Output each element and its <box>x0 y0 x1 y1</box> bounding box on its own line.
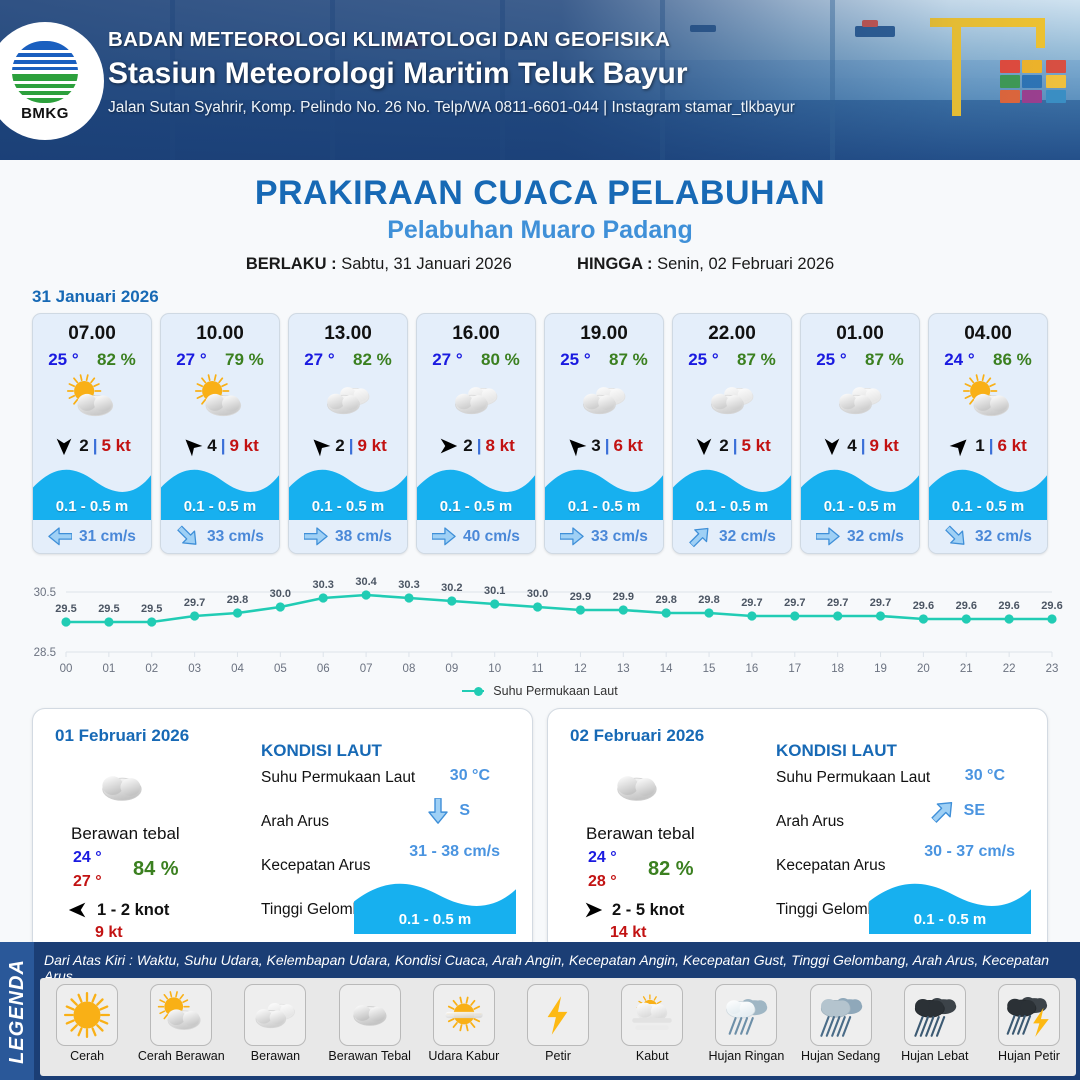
cerah-berawan-icon <box>150 984 212 1046</box>
bmkg-logo-mark <box>12 41 78 103</box>
card-wind-scale: 2 <box>79 436 88 456</box>
hourly-card: 19.00 25 ° 87 % 3 | 6 kt 0.1 - 0.5 m <box>544 313 664 554</box>
legend-item: Hujan Lebat <box>888 978 982 1076</box>
day-wind-range: 1 - 2 knot <box>97 901 169 920</box>
cerah-berawan-icon <box>33 372 151 428</box>
card-wind-row: 2 | 5 kt <box>33 428 151 464</box>
card-wave-height: 0.1 - 0.5 m <box>545 498 663 515</box>
card-wind-scale: 2 <box>463 436 472 456</box>
header-text-block: BADAN METEOROLOGI KLIMATOLOGI DAN GEOFIS… <box>108 28 795 117</box>
sst-value: 30 °C <box>450 767 490 785</box>
day-wind-row: 2 - 5 knot <box>582 899 684 921</box>
sst-value: 30 °C <box>965 767 1005 785</box>
card-wave: 0.1 - 0.5 m <box>801 464 919 520</box>
title-section: PRAKIRAAN CUACA PELABUHAN Pelabuhan Muar… <box>0 160 1080 274</box>
current-direction-label: Arah Arus <box>776 813 844 831</box>
legend-items: Cerah Cerah Berawan Berawan Berawan Teba… <box>40 978 1076 1076</box>
daily-forecast-row: 01 Februari 2026 Berawan tebal 24 ° 27 °… <box>0 698 1080 953</box>
card-time: 01.00 <box>801 314 919 345</box>
card-humidity: 80 % <box>481 350 520 370</box>
svg-text:13: 13 <box>617 663 630 675</box>
udara-kabur-icon <box>433 984 495 1046</box>
cerah-berawan-icon <box>929 372 1047 428</box>
sst-label: Suhu Permukaan Laut <box>261 769 415 787</box>
legend-item: Berawan <box>228 978 322 1076</box>
chart-legend-swatch <box>462 690 484 693</box>
card-humidity: 82 % <box>353 350 392 370</box>
svg-text:30.4: 30.4 <box>355 576 377 588</box>
card-current-row: 32 cm/s <box>673 520 791 553</box>
svg-text:30.3: 30.3 <box>398 579 419 591</box>
svg-text:29.8: 29.8 <box>227 594 248 606</box>
validity-row: BERLAKU : Sabtu, 31 Januari 2026 HINGGA … <box>0 255 1080 274</box>
svg-text:29.7: 29.7 <box>870 597 891 609</box>
svg-text:30.0: 30.0 <box>527 588 548 600</box>
current-direction-arrow-icon <box>48 527 72 546</box>
card-current-speed: 38 cm/s <box>335 528 392 546</box>
logo-text: BMKG <box>21 105 69 122</box>
petir-icon <box>527 984 589 1046</box>
card-wave: 0.1 - 0.5 m <box>417 464 535 520</box>
separator: | <box>733 436 738 456</box>
card-wind-row: 2 | 5 kt <box>673 428 791 464</box>
card-temperature: 25 ° <box>688 350 718 370</box>
card-wave: 0.1 - 0.5 m <box>545 464 663 520</box>
svg-text:30.2: 30.2 <box>441 582 462 594</box>
current-speed-value: 30 - 37 cm/s <box>924 843 1015 861</box>
chart-legend-label: Suhu Permukaan Laut <box>493 684 617 698</box>
svg-text:30.1: 30.1 <box>484 585 505 597</box>
daily-forecast-panel: 02 Februari 2026 Berawan tebal 24 ° 28 °… <box>547 708 1048 953</box>
hourly-date-heading: 31 Januari 2026 <box>32 287 1080 307</box>
agency-name: BADAN METEOROLOGI KLIMATOLOGI DAN GEOFIS… <box>108 28 795 52</box>
card-wave: 0.1 - 0.5 m <box>33 464 151 520</box>
svg-text:22: 22 <box>1003 663 1016 675</box>
card-time: 19.00 <box>545 314 663 345</box>
berawan-tebal-icon <box>339 984 401 1046</box>
legend-item: Berawan Tebal <box>323 978 417 1076</box>
svg-text:29.8: 29.8 <box>698 594 719 606</box>
svg-text:17: 17 <box>788 663 801 675</box>
svg-text:21: 21 <box>960 663 973 675</box>
card-current-speed: 32 cm/s <box>719 528 776 546</box>
card-time: 07.00 <box>33 314 151 345</box>
sea-conditions-title: KONDISI LAUT <box>261 741 382 761</box>
page-header: BMKG BADAN METEOROLOGI KLIMATOLOGI DAN G… <box>0 0 1080 160</box>
current-direction-arrow-icon <box>560 527 584 546</box>
svg-text:29.7: 29.7 <box>827 597 848 609</box>
logo-stripe <box>12 88 78 91</box>
card-gust: 9 kt <box>229 436 258 456</box>
logo-stripe <box>12 64 78 67</box>
card-current-speed: 32 cm/s <box>975 528 1032 546</box>
card-current-row: 40 cm/s <box>417 520 535 553</box>
hujan-lebat-icon <box>904 984 966 1046</box>
card-current-speed: 40 cm/s <box>463 528 520 546</box>
card-wind-scale: 2 <box>719 436 728 456</box>
card-wave-height: 0.1 - 0.5 m <box>33 498 151 515</box>
hourly-card: 10.00 27 ° 79 % 4 | 9 kt 0.1 - 0.5 m 3 <box>160 313 280 554</box>
svg-text:28.5: 28.5 <box>34 647 56 659</box>
berawan-tebal-icon <box>606 757 668 824</box>
svg-text:23: 23 <box>1046 663 1059 675</box>
svg-text:01: 01 <box>102 663 115 675</box>
svg-text:16: 16 <box>746 663 759 675</box>
svg-text:29.9: 29.9 <box>570 591 591 603</box>
wind-direction-arrow-icon <box>821 435 843 457</box>
cerah-berawan-icon <box>161 372 279 428</box>
berawan-icon <box>289 372 407 428</box>
separator: | <box>861 436 866 456</box>
wind-direction-arrow-icon <box>565 435 587 457</box>
legend-side-text: LEGENDA <box>6 959 29 1064</box>
wind-direction-arrow-icon <box>181 435 203 457</box>
card-wind-scale: 4 <box>207 436 216 456</box>
valid-from-value: Sabtu, 31 Januari 2026 <box>341 255 512 273</box>
valid-until-value: Senin, 02 Februari 2026 <box>657 255 834 273</box>
wind-direction-arrow-icon <box>582 899 604 921</box>
legend-bar: LEGENDA Dari Atas Kiri : Waktu, Suhu Uda… <box>0 942 1080 1080</box>
separator: | <box>477 436 482 456</box>
day-wind-range: 2 - 5 knot <box>612 901 684 920</box>
current-direction-arrow-icon <box>432 527 456 546</box>
sst-chart-svg: 30.528.500010203040506070809101112131415… <box>14 564 1066 682</box>
card-time: 16.00 <box>417 314 535 345</box>
card-wave-height: 0.1 - 0.5 m <box>929 498 1047 515</box>
card-current-row: 33 cm/s <box>545 520 663 553</box>
svg-text:20: 20 <box>917 663 930 675</box>
card-wave-height: 0.1 - 0.5 m <box>673 498 791 515</box>
svg-text:11: 11 <box>532 663 544 675</box>
logo-stripe <box>12 50 78 53</box>
legend-item: Hujan Ringan <box>699 978 793 1076</box>
svg-text:30.5: 30.5 <box>34 587 56 599</box>
logo-stripe <box>12 95 78 98</box>
svg-text:07: 07 <box>360 663 373 675</box>
berawan-icon <box>801 372 919 428</box>
card-wind-row: 2 | 9 kt <box>289 428 407 464</box>
legend-item-label: Kabut <box>636 1049 669 1063</box>
current-direction-arrow-icon <box>816 527 840 546</box>
chart-legend: Suhu Permukaan Laut <box>0 684 1080 698</box>
card-time: 10.00 <box>161 314 279 345</box>
berawan-icon <box>417 372 535 428</box>
svg-text:10: 10 <box>488 663 501 675</box>
current-direction-arrow-icon <box>176 527 200 546</box>
card-current-row: 32 cm/s <box>801 520 919 553</box>
hujan-petir-icon <box>998 984 1060 1046</box>
hujan-sedang-icon <box>810 984 872 1046</box>
sst-chart: 30.528.500010203040506070809101112131415… <box>14 564 1066 682</box>
card-current-row: 31 cm/s <box>33 520 151 553</box>
svg-text:14: 14 <box>660 663 673 675</box>
card-wind-row: 1 | 6 kt <box>929 428 1047 464</box>
hourly-card: 04.00 24 ° 86 % 1 | 6 kt 0.1 - 0.5 m 3 <box>928 313 1048 554</box>
berawan-icon <box>244 984 306 1046</box>
current-direction-arrow-icon <box>944 527 968 546</box>
day-temp-min: 24 ° <box>73 849 102 867</box>
wind-direction-arrow-icon <box>949 435 971 457</box>
svg-text:29.8: 29.8 <box>655 594 676 606</box>
card-current-speed: 31 cm/s <box>79 528 136 546</box>
day-humidity: 82 % <box>648 858 694 881</box>
svg-text:04: 04 <box>231 663 244 675</box>
wind-direction-arrow-icon <box>693 435 715 457</box>
card-current-speed: 33 cm/s <box>591 528 648 546</box>
card-current-row: 33 cm/s <box>161 520 279 553</box>
card-wind-row: 4 | 9 kt <box>161 428 279 464</box>
card-wind-row: 2 | 8 kt <box>417 428 535 464</box>
card-gust: 5 kt <box>741 436 770 456</box>
day-wave-value: 0.1 - 0.5 m <box>869 911 1031 928</box>
current-direction-value-row: S <box>425 801 470 821</box>
hourly-card: 01.00 25 ° 87 % 4 | 9 kt 0.1 - 0.5 m <box>800 313 920 554</box>
card-wave: 0.1 - 0.5 m <box>161 464 279 520</box>
svg-text:29.5: 29.5 <box>141 603 162 615</box>
card-wind-scale: 2 <box>335 436 344 456</box>
svg-text:19: 19 <box>874 663 887 675</box>
wind-direction-arrow-icon <box>437 435 459 457</box>
legend-side-title: LEGENDA <box>0 942 34 1080</box>
sst-label: Suhu Permukaan Laut <box>776 769 930 787</box>
card-wave: 0.1 - 0.5 m <box>289 464 407 520</box>
hourly-card: 07.00 25 ° 82 % 2 | 5 kt 0.1 - 0.5 m 3 <box>32 313 152 554</box>
daily-forecast-panel: 01 Februari 2026 Berawan tebal 24 ° 27 °… <box>32 708 533 953</box>
day-temp-min: 24 ° <box>588 849 617 867</box>
current-direction-label: Arah Arus <box>261 813 329 831</box>
sea-conditions-title: KONDISI LAUT <box>776 741 897 761</box>
card-wind-scale: 4 <box>847 436 856 456</box>
card-wind-row: 4 | 9 kt <box>801 428 919 464</box>
card-wind-row: 3 | 6 kt <box>545 428 663 464</box>
card-temperature: 25 ° <box>560 350 590 370</box>
svg-text:29.5: 29.5 <box>98 603 119 615</box>
card-temperature: 25 ° <box>816 350 846 370</box>
day-humidity: 84 % <box>133 858 179 881</box>
valid-from-label: BERLAKU : <box>246 255 337 273</box>
current-direction-value: SE <box>964 802 985 820</box>
current-speed-label: Kecepatan Arus <box>776 857 885 875</box>
logo-stripe <box>12 57 78 60</box>
current-speed-value: 31 - 38 cm/s <box>409 843 500 861</box>
card-gust: 5 kt <box>101 436 130 456</box>
hourly-card: 22.00 25 ° 87 % 2 | 5 kt 0.1 - 0.5 m <box>672 313 792 554</box>
legend-item-label: Hujan Lebat <box>901 1049 968 1063</box>
card-current-row: 32 cm/s <box>929 520 1047 553</box>
card-gust: 9 kt <box>869 436 898 456</box>
day-date: 01 Februari 2026 <box>55 726 189 746</box>
card-wind-scale: 3 <box>591 436 600 456</box>
card-humidity: 87 % <box>865 350 904 370</box>
current-direction-arrow-icon <box>688 527 712 546</box>
card-humidity: 82 % <box>97 350 136 370</box>
legend-item-label: Udara Kabur <box>428 1049 499 1063</box>
day-gust: 9 kt <box>95 924 123 942</box>
current-speed-label: Kecepatan Arus <box>261 857 370 875</box>
card-temperature: 27 ° <box>432 350 462 370</box>
legend-item-label: Cerah Berawan <box>138 1049 225 1063</box>
card-time: 22.00 <box>673 314 791 345</box>
svg-text:29.9: 29.9 <box>613 591 634 603</box>
card-temperature: 27 ° <box>176 350 206 370</box>
separator: | <box>93 436 98 456</box>
hourly-card: 16.00 27 ° 80 % 2 | 8 kt 0.1 - 0.5 m <box>416 313 536 554</box>
day-temp-max: 27 ° <box>73 873 102 891</box>
svg-text:29.6: 29.6 <box>956 600 977 612</box>
separator: | <box>989 436 994 456</box>
svg-text:29.7: 29.7 <box>784 597 805 609</box>
card-temperature: 24 ° <box>944 350 974 370</box>
berawan-tebal-icon <box>91 757 153 824</box>
station-name: Stasiun Meteorologi Maritim Teluk Bayur <box>108 57 795 91</box>
svg-text:29.6: 29.6 <box>998 600 1019 612</box>
card-temperature: 25 ° <box>48 350 78 370</box>
current-direction-arrow-icon <box>304 527 328 546</box>
svg-text:29.7: 29.7 <box>184 597 205 609</box>
card-wave-height: 0.1 - 0.5 m <box>289 498 407 515</box>
legend-item: Cerah <box>40 978 134 1076</box>
legend-item-label: Petir <box>545 1049 571 1063</box>
logo-divider <box>12 70 78 74</box>
berawan-icon <box>545 372 663 428</box>
svg-text:09: 09 <box>445 663 458 675</box>
card-humidity: 79 % <box>225 350 264 370</box>
svg-text:30.3: 30.3 <box>312 579 333 591</box>
current-direction-value: S <box>459 802 470 820</box>
legend-item: Udara Kabur <box>417 978 511 1076</box>
svg-text:08: 08 <box>403 663 416 675</box>
card-current-row: 38 cm/s <box>289 520 407 553</box>
card-gust: 9 kt <box>357 436 386 456</box>
current-direction-value-row: SE <box>930 801 985 821</box>
legend-item: Kabut <box>605 978 699 1076</box>
card-humidity: 87 % <box>737 350 776 370</box>
kabut-icon <box>621 984 683 1046</box>
legend-item: Hujan Petir <box>982 978 1076 1076</box>
card-gust: 6 kt <box>997 436 1026 456</box>
day-date: 02 Februari 2026 <box>570 726 704 746</box>
legend-item: Petir <box>511 978 605 1076</box>
separator: | <box>349 436 354 456</box>
card-temperature: 27 ° <box>304 350 334 370</box>
current-direction-arrow-icon <box>930 801 956 821</box>
current-direction-arrow-icon <box>425 801 451 821</box>
legend-item-label: Berawan Tebal <box>328 1049 410 1063</box>
card-wave-height: 0.1 - 0.5 m <box>417 498 535 515</box>
svg-text:12: 12 <box>574 663 587 675</box>
legend-item-label: Hujan Sedang <box>801 1049 880 1063</box>
page-title: PRAKIRAAN CUACA PELABUHAN <box>0 174 1080 213</box>
svg-text:00: 00 <box>60 663 73 675</box>
separator: | <box>221 436 226 456</box>
card-current-speed: 33 cm/s <box>207 528 264 546</box>
valid-until-label: HINGGA : <box>577 255 652 273</box>
hujan-ringan-icon <box>715 984 777 1046</box>
svg-text:02: 02 <box>145 663 158 675</box>
card-gust: 6 kt <box>613 436 642 456</box>
card-gust: 8 kt <box>485 436 514 456</box>
svg-text:29.5: 29.5 <box>55 603 76 615</box>
card-current-speed: 32 cm/s <box>847 528 904 546</box>
day-wave-value: 0.1 - 0.5 m <box>354 911 516 928</box>
day-temp-max: 28 ° <box>588 873 617 891</box>
svg-text:18: 18 <box>831 663 844 675</box>
svg-text:29.6: 29.6 <box>1041 600 1062 612</box>
hourly-card: 13.00 27 ° 82 % 2 | 9 kt 0.1 - 0.5 m <box>288 313 408 554</box>
svg-text:15: 15 <box>703 663 716 675</box>
day-wind-row: 1 - 2 knot <box>67 899 169 921</box>
cerah-icon <box>56 984 118 1046</box>
svg-text:06: 06 <box>317 663 330 675</box>
svg-text:03: 03 <box>188 663 201 675</box>
svg-text:30.0: 30.0 <box>270 588 291 600</box>
wind-direction-arrow-icon <box>309 435 331 457</box>
svg-text:29.7: 29.7 <box>741 597 762 609</box>
card-wind-scale: 1 <box>975 436 984 456</box>
contact-info: Jalan Sutan Syahrir, Komp. Pelindo No. 2… <box>108 99 795 117</box>
legend-item: Cerah Berawan <box>134 978 228 1076</box>
card-humidity: 87 % <box>609 350 648 370</box>
legend-item-label: Cerah <box>70 1049 104 1063</box>
berawan-icon <box>673 372 791 428</box>
legend-item-label: Hujan Petir <box>998 1049 1060 1063</box>
wind-direction-arrow-icon <box>67 899 89 921</box>
svg-text:05: 05 <box>274 663 287 675</box>
card-time: 13.00 <box>289 314 407 345</box>
day-gust: 14 kt <box>610 924 646 942</box>
card-wave-height: 0.1 - 0.5 m <box>161 498 279 515</box>
legend-item-label: Hujan Ringan <box>709 1049 785 1063</box>
day-wave: 0.1 - 0.5 m <box>869 878 1031 934</box>
day-wave: 0.1 - 0.5 m <box>354 878 516 934</box>
card-time: 04.00 <box>929 314 1047 345</box>
separator: | <box>605 436 610 456</box>
legend-item-label: Berawan <box>251 1049 300 1063</box>
page-subtitle: Pelabuhan Muaro Padang <box>0 216 1080 245</box>
wind-direction-arrow-icon <box>53 435 75 457</box>
hourly-forecast-row: 07.00 25 ° 82 % 2 | 5 kt 0.1 - 0.5 m 3 <box>0 313 1080 554</box>
day-condition: Berawan tebal <box>71 824 180 844</box>
card-wave: 0.1 - 0.5 m <box>673 464 791 520</box>
card-wave-height: 0.1 - 0.5 m <box>801 498 919 515</box>
card-humidity: 86 % <box>993 350 1032 370</box>
card-wave: 0.1 - 0.5 m <box>929 464 1047 520</box>
logo-stripe <box>12 81 78 84</box>
svg-text:29.6: 29.6 <box>913 600 934 612</box>
day-condition: Berawan tebal <box>586 824 695 844</box>
legend-item: Hujan Sedang <box>794 978 888 1076</box>
